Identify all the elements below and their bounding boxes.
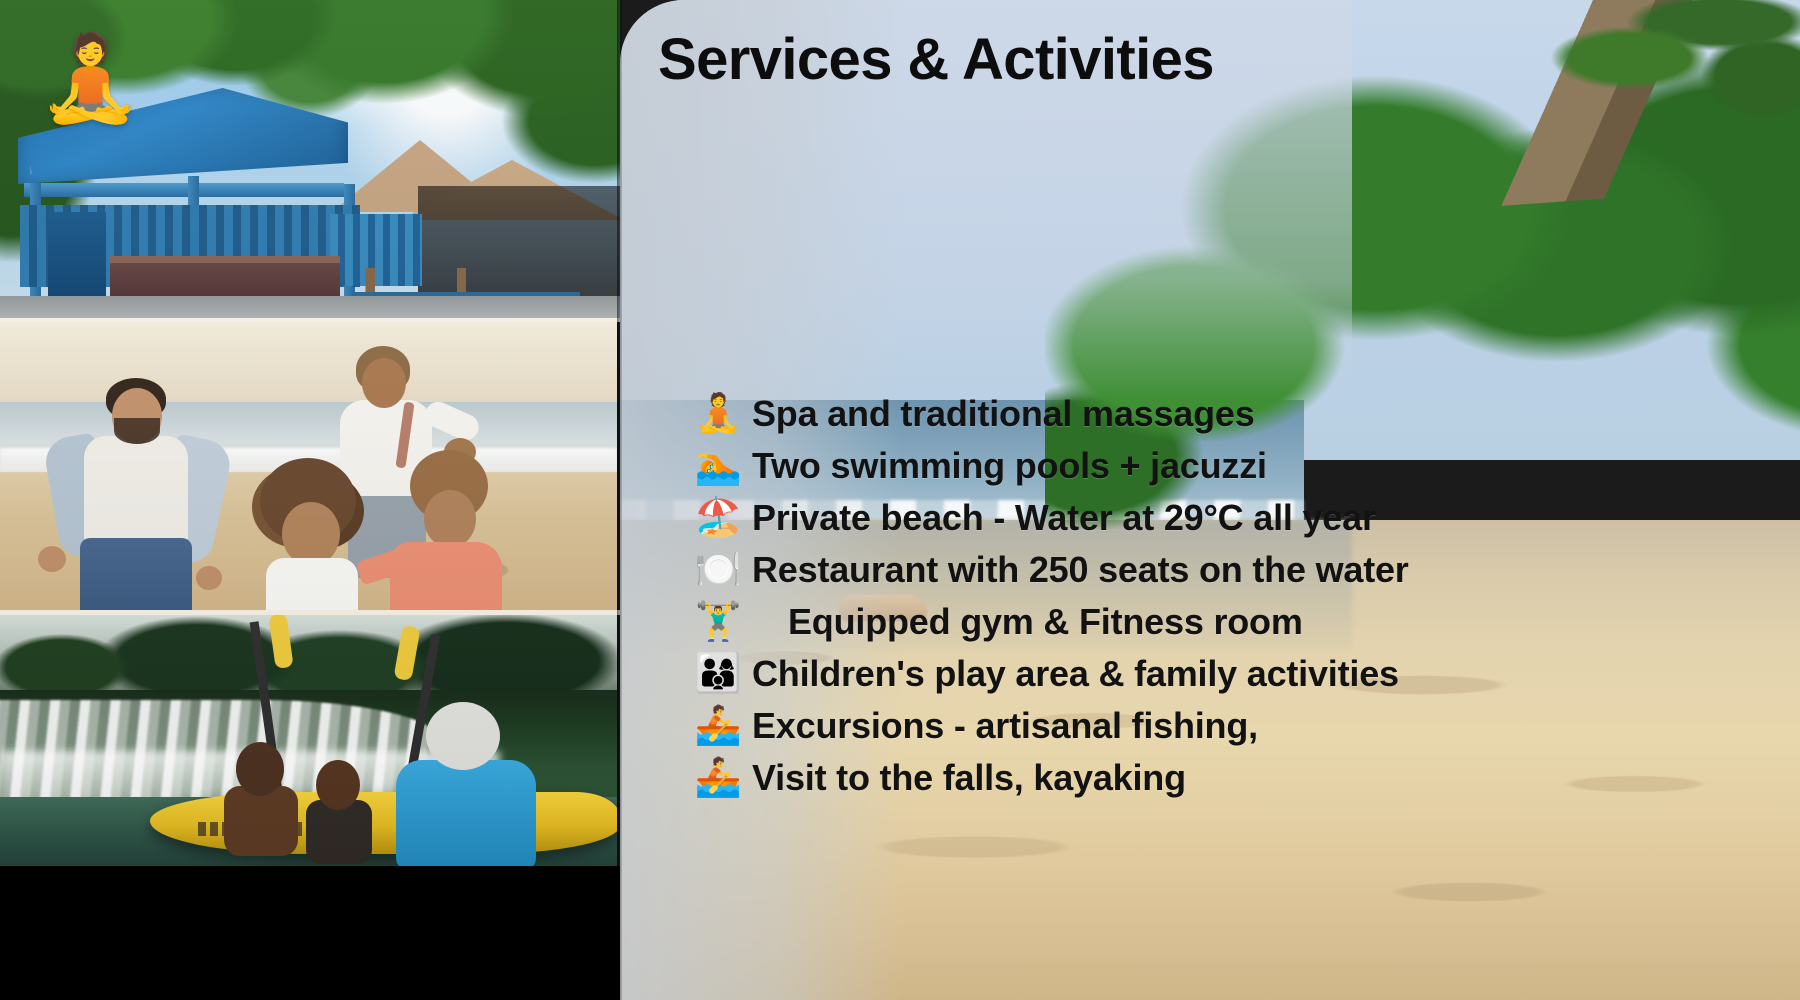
person-in-lotus-position-icon: 🧘 bbox=[38, 36, 143, 120]
column-edge bbox=[617, 0, 622, 1000]
person-father bbox=[30, 378, 230, 612]
family-icon: 👨‍👩‍👦 bbox=[694, 655, 742, 693]
person-child-right bbox=[352, 450, 542, 612]
slide-canvas: 🧘 bbox=[0, 0, 1800, 1000]
service-item: 🚣Visit to the falls, kayaking bbox=[694, 752, 1784, 804]
photo-divider bbox=[0, 318, 620, 322]
service-item: 🏖️Private beach - Water at 29°C all year bbox=[694, 492, 1784, 544]
fork-and-knife-with-plate-icon: 🍽️ bbox=[694, 551, 742, 589]
service-item-label: Excursions - artisanal fishing, bbox=[752, 705, 1258, 747]
person-in-lotus-position-icon: 🧘 bbox=[694, 395, 742, 433]
service-item-label: Two swimming pools + jacuzzi bbox=[752, 445, 1267, 487]
service-item: 🧘Spa and traditional massages bbox=[694, 388, 1784, 440]
photo-column: 🧘 bbox=[0, 0, 620, 1000]
service-item-label: Restaurant with 250 seats on the water bbox=[752, 549, 1409, 591]
person-rowing-boat-icon: 🚣 bbox=[694, 759, 742, 797]
blue-door bbox=[48, 212, 106, 300]
paved-ground bbox=[0, 296, 620, 318]
service-item: 👨‍👩‍👦Children's play area & family activ… bbox=[694, 648, 1784, 700]
service-item-label: Visit to the falls, kayaking bbox=[752, 757, 1186, 799]
family-beach-photo bbox=[0, 320, 617, 612]
man-lifting-weights-icon: 🏋️‍♂️ bbox=[694, 603, 742, 641]
service-item: 🚣Excursions - artisanal fishing, bbox=[694, 700, 1784, 752]
treeline-skyline bbox=[0, 614, 617, 690]
spa-jacuzzi-photo: 🧘 bbox=[0, 0, 620, 318]
panel-content: Services & Activities 🧘Spa and tradition… bbox=[620, 0, 1800, 1000]
services-panel: Services & Activities 🧘Spa and tradition… bbox=[620, 0, 1800, 1000]
service-item-label: Private beach - Water at 29°C all year bbox=[752, 497, 1376, 539]
page-title: Services & Activities bbox=[658, 26, 1214, 93]
services-list: 🧘Spa and traditional massages🏊Two swimmi… bbox=[694, 388, 1784, 804]
service-item-label: Spa and traditional massages bbox=[752, 393, 1255, 435]
service-item-label: Children's play area & family activities bbox=[752, 653, 1399, 695]
photo-divider bbox=[0, 610, 620, 615]
swimmer-icon: 🏊 bbox=[694, 447, 742, 485]
bottom-letterbox bbox=[0, 866, 620, 1000]
service-item: 🏋️‍♂️Equipped gym & Fitness room bbox=[694, 596, 1784, 648]
person-rowing-boat-icon: 🚣 bbox=[694, 707, 742, 745]
service-item: 🍽️Restaurant with 250 seats on the water bbox=[694, 544, 1784, 596]
pavilion-rail bbox=[24, 183, 344, 197]
service-item-label: Equipped gym & Fitness room bbox=[788, 601, 1303, 643]
beach-with-umbrella-icon: 🏖️ bbox=[694, 499, 742, 537]
kayaking-falls-photo bbox=[0, 614, 617, 868]
service-item: 🏊Two swimming pools + jacuzzi bbox=[694, 440, 1784, 492]
